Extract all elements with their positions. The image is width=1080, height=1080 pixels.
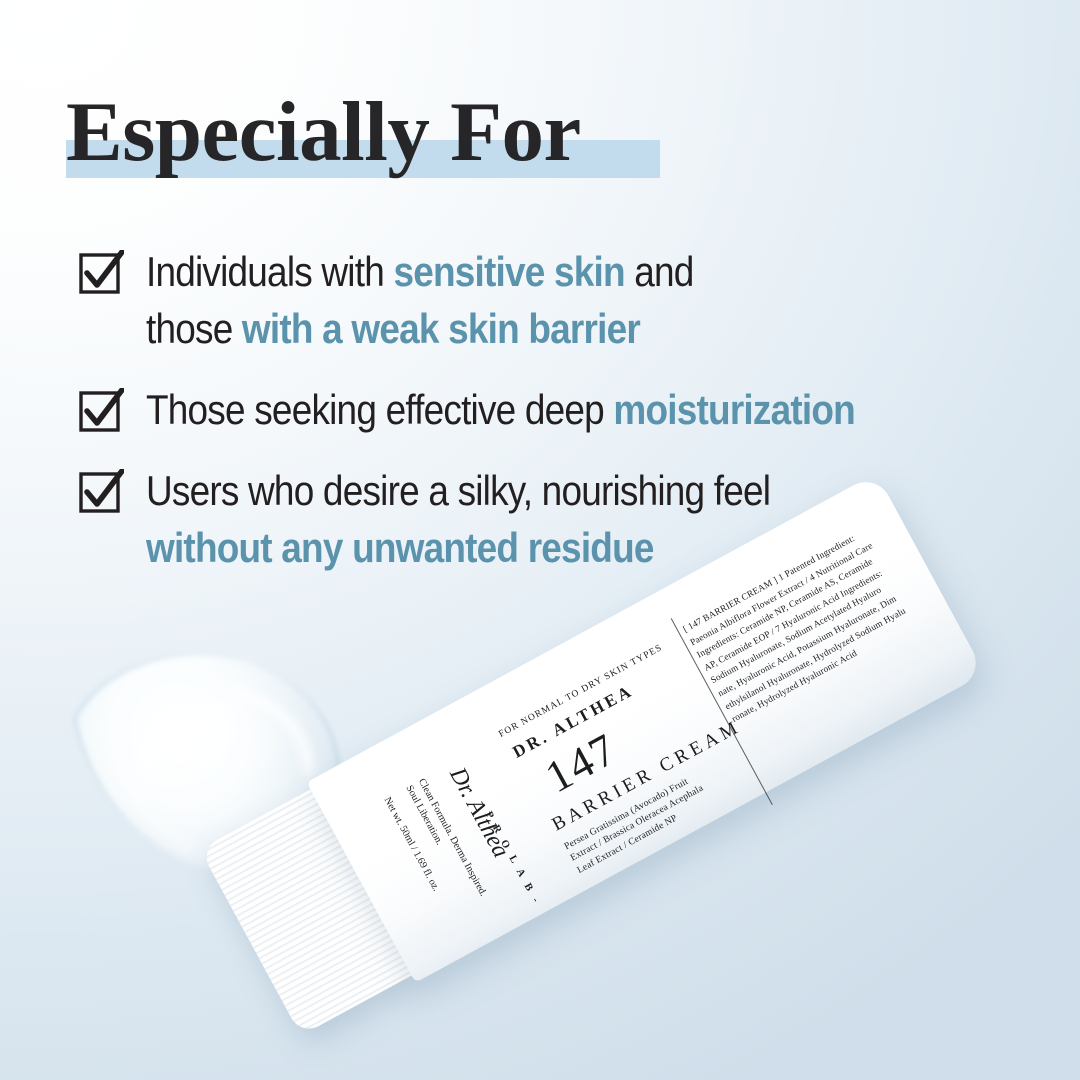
checkbox-checked-icon (78, 250, 124, 296)
benefit-text-line: Individuals with sensitive skin and (146, 243, 694, 300)
checkbox-checked-icon (78, 469, 124, 515)
benefit-plain-text: Individuals with (146, 248, 393, 295)
benefit-text-line: Those seeking effective deep moisturizat… (146, 381, 855, 438)
headline-block: Especially For (66, 88, 581, 176)
benefit-plain-text: Those seeking effective deep (146, 386, 613, 433)
checkbox-checked-icon (78, 388, 124, 434)
benefit-highlight-text: sensitive skin (393, 248, 624, 295)
benefit-plain-text: those (146, 305, 242, 352)
benefit-text-block: Those seeking effective deep moisturizat… (146, 381, 952, 438)
checkbox-checked-icon (78, 469, 124, 515)
promo-image-canvas: Especially For Individuals with sensitiv… (0, 0, 1080, 1080)
benefit-plain-text: Users who desire a silky, nourishing fee… (146, 467, 770, 514)
benefit-text-block: Individuals with sensitive skin andthose… (146, 243, 768, 357)
label-ingredients: [ 147 BARRIER CREAM ] 1 Patented Ingredi… (681, 526, 918, 727)
page-title: Especially For (66, 88, 581, 176)
benefit-plain-text: and (625, 248, 694, 295)
benefit-highlight-text: with a weak skin barrier (242, 305, 640, 352)
benefit-text-line: those with a weak skin barrier (146, 300, 694, 357)
checkbox-checked-icon (78, 388, 124, 434)
checkbox-checked-icon (78, 250, 124, 296)
benefit-highlight-text: without any unwanted residue (146, 524, 654, 571)
benefit-item: Those seeking effective deep moisturizat… (78, 381, 1028, 438)
benefit-text-line: Users who desire a silky, nourishing fee… (146, 462, 770, 519)
benefit-item: Individuals with sensitive skin andthose… (78, 243, 1028, 357)
benefit-highlight-text: moisturization (613, 386, 854, 433)
